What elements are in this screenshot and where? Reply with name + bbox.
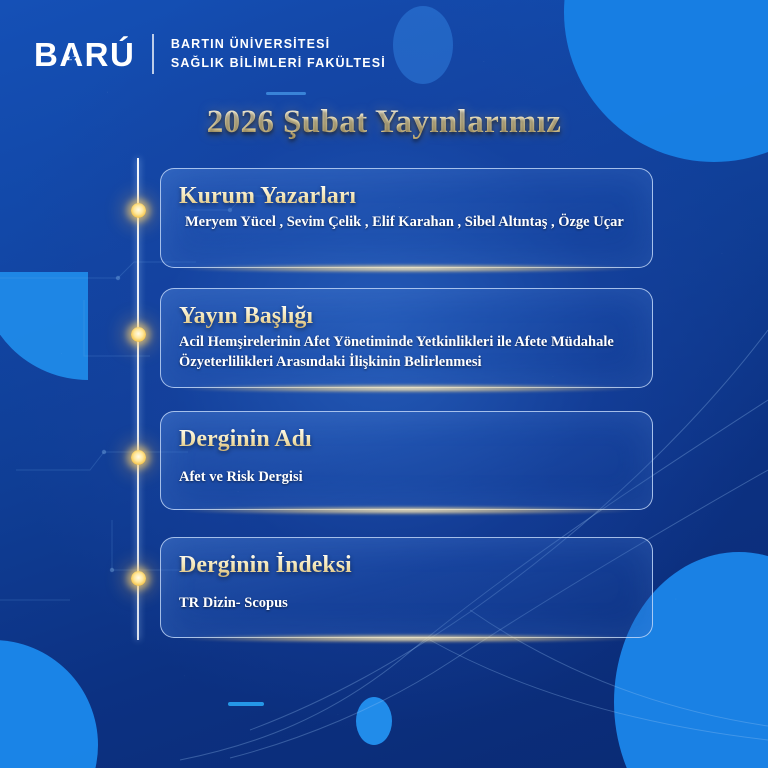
decorative-circle-bottom-center	[356, 697, 392, 745]
timeline-track	[137, 158, 139, 640]
header-divider	[152, 34, 154, 74]
card-body: Afet ve Risk Dergisi	[179, 467, 634, 488]
card-yayin-basligi[interactable]: Yayın Başlığı Acil Hemşirelerinin Afet Y…	[160, 288, 653, 388]
card-heading: Kurum Yazarları	[179, 183, 634, 210]
decorative-dash-under-logo	[266, 92, 306, 95]
card-derginin-adi[interactable]: Derginin Adı Afet ve Risk Dergisi	[160, 411, 653, 510]
card-heading: Derginin Adı	[179, 426, 634, 453]
card-heading: Derginin İndeksi	[179, 552, 634, 579]
poster-canvas: BARÚ BARTIN ÜNİVERSİTESİ SAĞLIK BİLİMLER…	[0, 0, 768, 768]
card-derginin-indeksi[interactable]: Derginin İndeksi TR Dizin- Scopus	[160, 537, 653, 638]
institution-line-2: SAĞLIK BİLİMLERİ FAKÜLTESİ	[171, 54, 386, 73]
card-body: Meryem Yücel , Sevim Çelik , Elif Karaha…	[179, 212, 634, 233]
timeline-dot-4	[131, 571, 146, 586]
decorative-circle-top-center	[393, 6, 453, 84]
brand-header: BARÚ BARTIN ÜNİVERSİTESİ SAĞLIK BİLİMLER…	[34, 34, 386, 74]
decorative-dash-bottom	[228, 702, 264, 706]
baru-logo-text: BARÚ	[34, 36, 135, 73]
timeline-dot-2	[131, 327, 146, 342]
card-body: Acil Hemşirelerinin Afet Yönetiminde Yet…	[179, 332, 634, 373]
timeline-dot-3	[131, 450, 146, 465]
card-kurum-yazarlari[interactable]: Kurum Yazarları Meryem Yücel , Sevim Çel…	[160, 168, 653, 268]
faculty-name: BARTIN ÜNİVERSİTESİ SAĞLIK BİLİMLERİ FAK…	[171, 35, 386, 74]
card-glow-4	[180, 634, 635, 643]
page-title: 2026 Şubat Yayınlarımız	[0, 104, 768, 141]
institution-line-1: BARTIN ÜNİVERSİTESİ	[171, 35, 386, 54]
card-body: TR Dizin- Scopus	[179, 593, 634, 614]
card-glow-3	[180, 506, 635, 515]
card-glow-1	[180, 264, 635, 273]
decorative-circle-bottom-left	[0, 640, 98, 768]
baru-logo: BARÚ	[34, 38, 135, 71]
card-heading: Yayın Başlığı	[179, 303, 634, 330]
decorative-quarter-circle-left	[0, 272, 88, 380]
timeline-dot-1	[131, 203, 146, 218]
card-glow-2	[180, 384, 635, 393]
